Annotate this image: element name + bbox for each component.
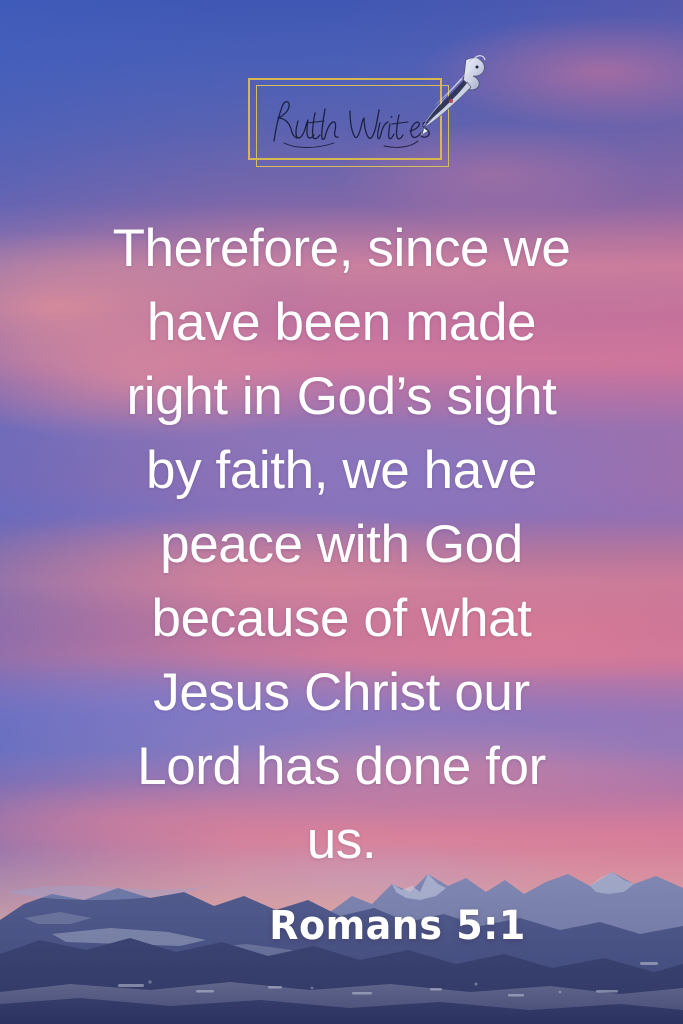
verse-line: Therefore, since we [42, 212, 641, 286]
verse-line: right in God’s sight [42, 360, 641, 434]
brand-logo[interactable] [246, 58, 456, 166]
scripture-image-canvas: Therefore, since we have been made right… [0, 0, 683, 1024]
verse-line: Jesus Christ our [42, 656, 641, 730]
verse-line: peace with God [42, 508, 641, 582]
bird-quill-pen-icon [412, 54, 490, 140]
verse-line: by faith, we have [42, 434, 641, 508]
scripture-reference: Romans 5:1 [0, 902, 683, 949]
verse-line: have been made [42, 286, 641, 360]
verse-line: Lord has done for [42, 730, 641, 804]
verse-line: because of what [42, 582, 641, 656]
verse-text: Therefore, since we have been made right… [0, 212, 683, 878]
verse-line: us. [42, 804, 641, 878]
